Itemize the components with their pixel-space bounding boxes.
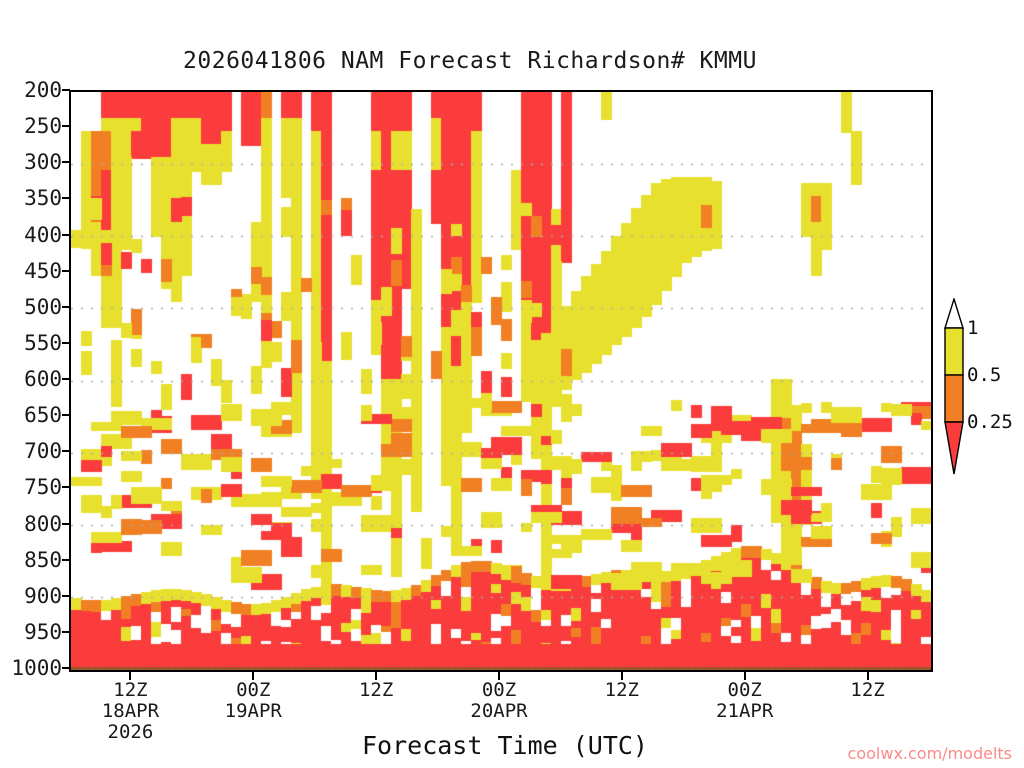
colorbar-tick-025: 0.25 [967, 411, 1013, 433]
x-tick-label-2: 12Z [359, 680, 393, 701]
x-tick-label-3: 00Z20APR [470, 680, 527, 722]
chart-page: 2026041806 NAM Forecast Richardson# KMMU… [0, 0, 1024, 768]
x-tick-label-6: 12Z [850, 680, 884, 701]
watermark: coolwx.com/modelts [848, 744, 1012, 763]
x-tick-label-1: 00Z19APR [225, 680, 282, 722]
colorbar-tick-1: 1 [967, 317, 978, 339]
x-tick-label-5: 00Z21APR [716, 680, 773, 722]
x-axis-ticks: 12Z18APR202600Z19APR12Z00Z20APR12Z00Z21A… [0, 0, 1024, 768]
x-tick-label-4: 12Z [605, 680, 639, 701]
colorbar-tick-05: 0.5 [967, 364, 1001, 386]
colorbar[interactable] [944, 298, 964, 474]
